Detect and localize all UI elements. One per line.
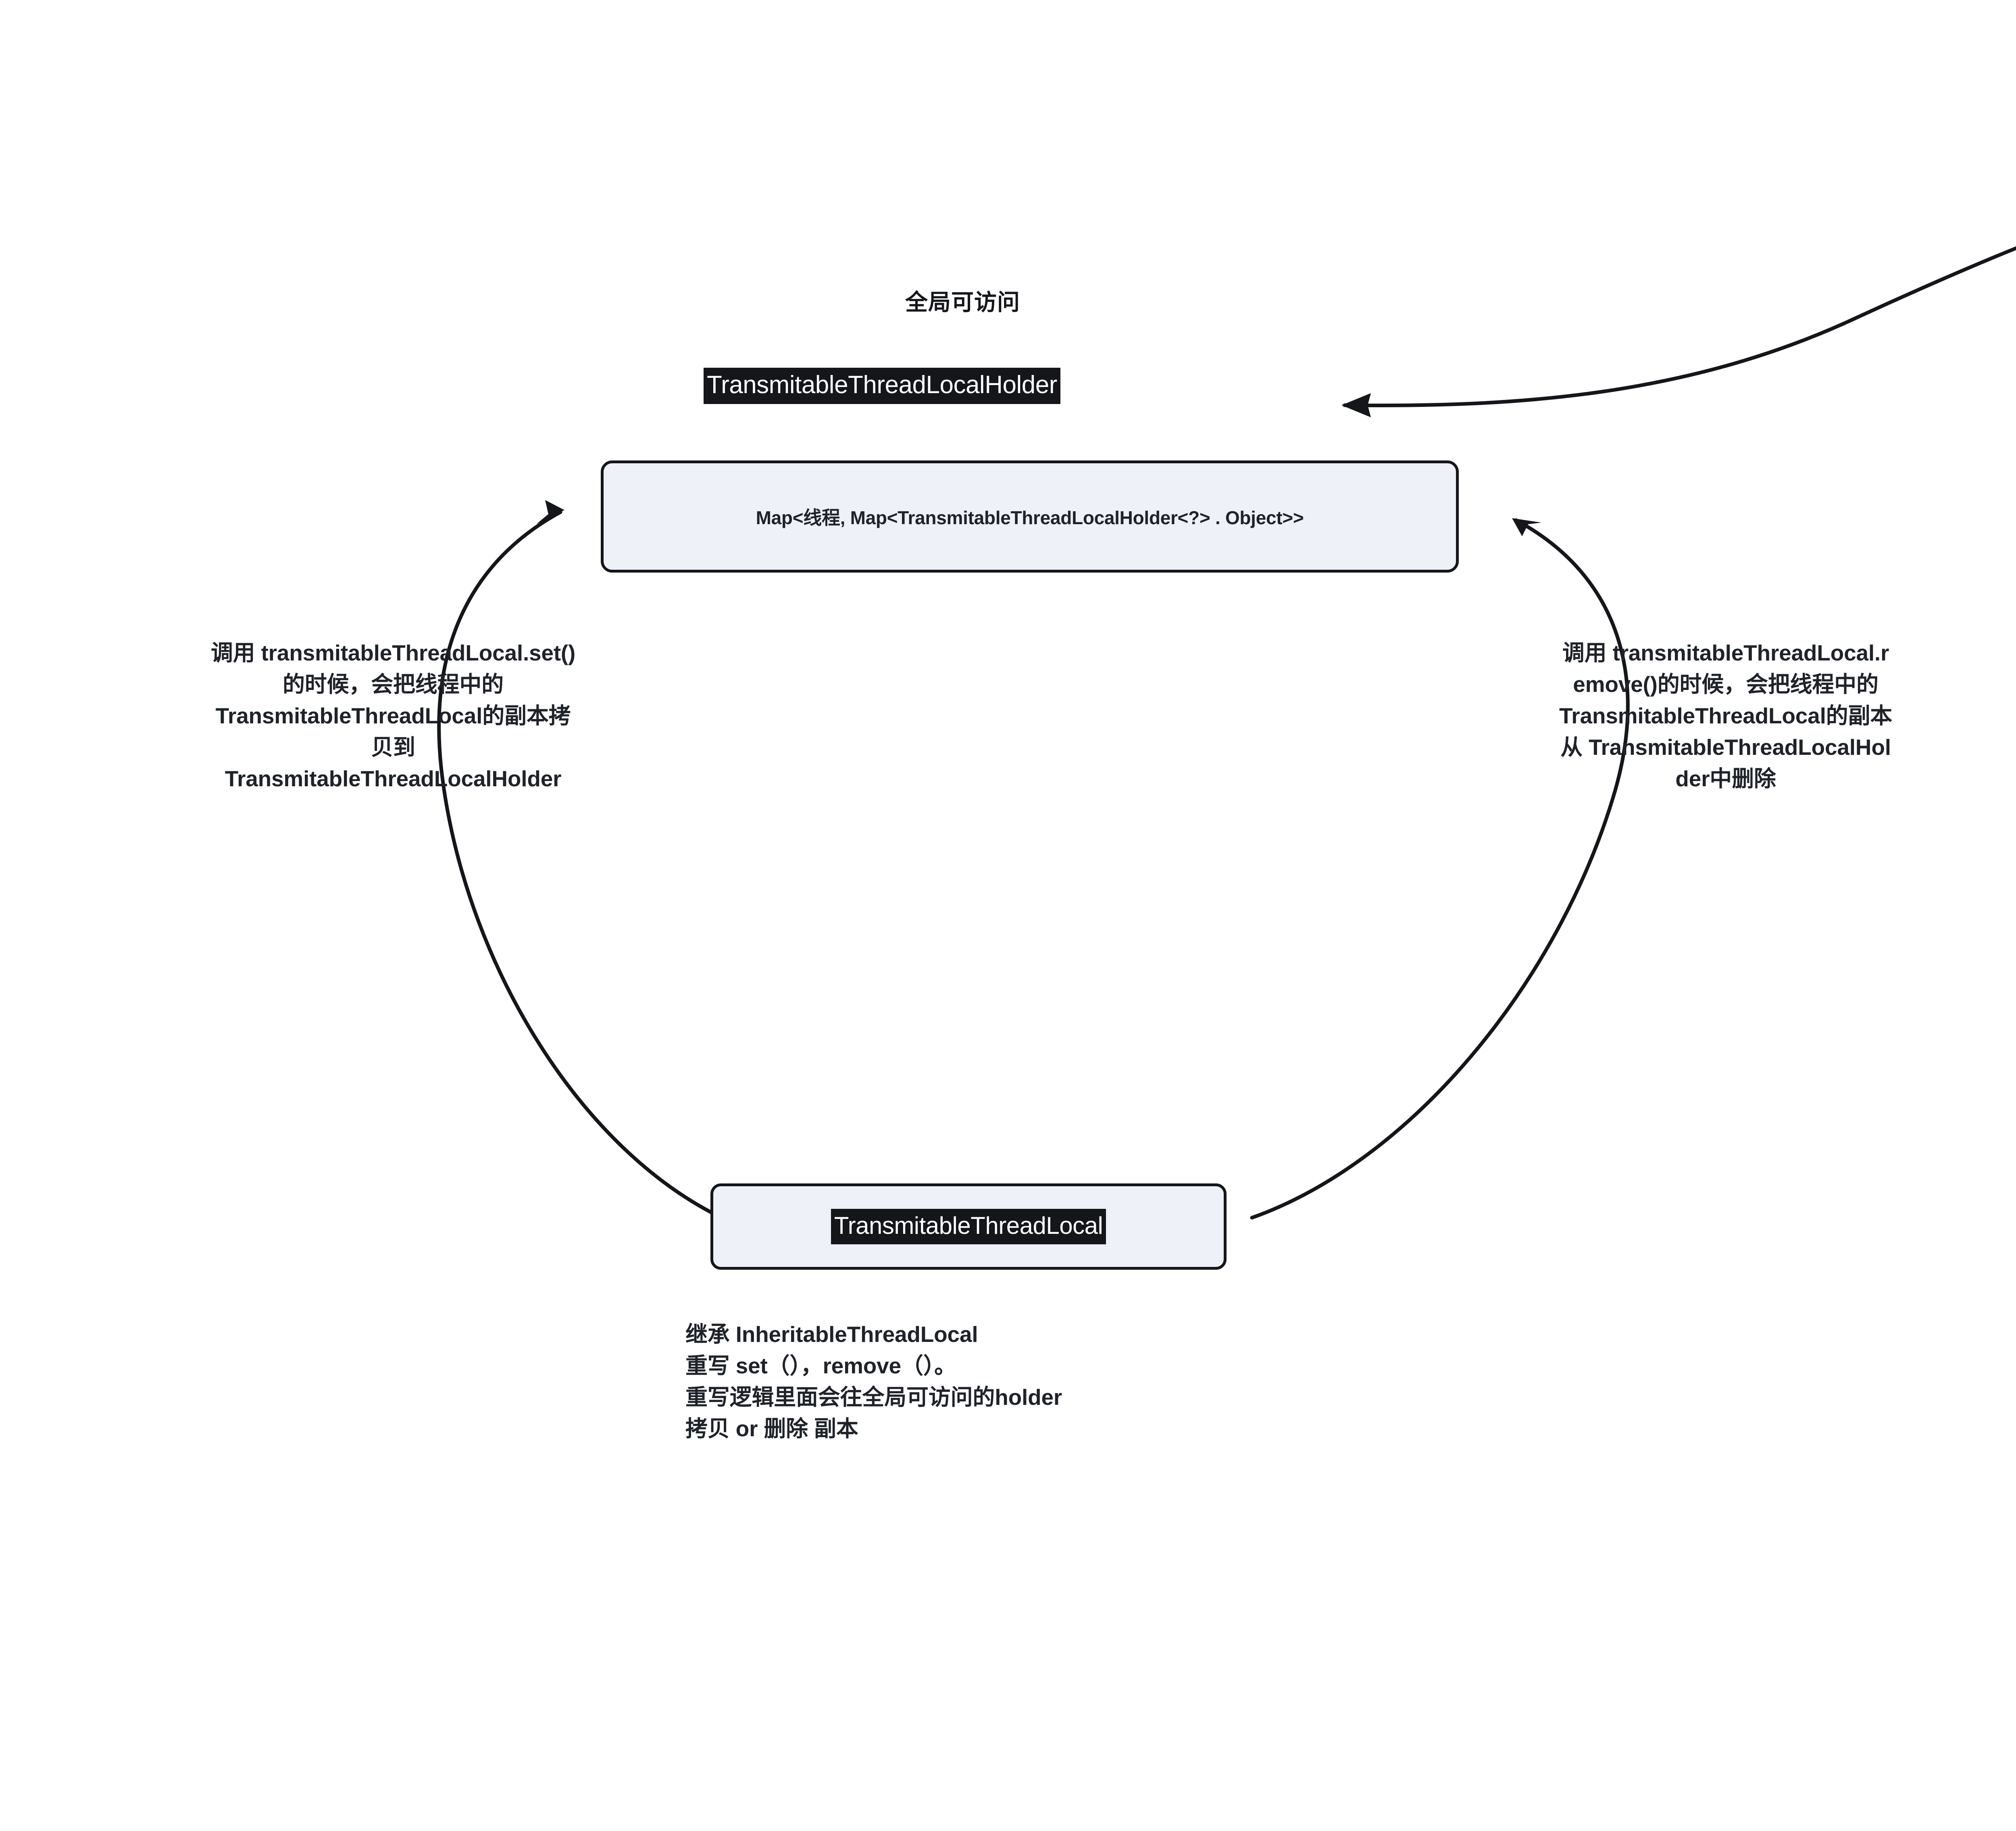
ttl-label: TransmitableThreadLocal — [831, 1209, 1106, 1244]
annotation-set: 调用 transmitableThreadLocal.set() 的时候，会把线… — [24, 637, 762, 794]
annotation-remove: 调用 transmitableThreadLocal.r emove()的时候，… — [1399, 637, 2016, 794]
edge-ttl-to-map-left — [439, 500, 722, 1218]
map-entry-box[interactable]: Map<线程, Map<TransmitableThreadLocalHolde… — [601, 460, 1459, 573]
holder-node[interactable]: TransmitableThreadLocalHolder — [704, 368, 1060, 404]
edge-layer — [0, 0, 2016, 1831]
edge-ttl-to-map-right — [1252, 518, 1628, 1218]
edge-mainthread-to-holder — [1341, 139, 2016, 417]
map-entry-label: Map<线程, Map<TransmitableThreadLocalHolde… — [756, 503, 1304, 530]
holder-label: TransmitableThreadLocalHolder — [704, 368, 1060, 404]
diagram-canvas: 全局可访问 TransmitableThreadLocalHolder Map<… — [0, 0, 2016, 1831]
ttl-node[interactable]: TransmitableThreadLocal — [710, 1183, 1227, 1270]
annotation-ttl-detail: 继承 InheritableThreadLocal 重写 set（），remov… — [685, 1319, 1452, 1444]
global-access-title: 全局可访问 — [905, 284, 1020, 317]
annotation-consume: 线程池中的其他线程消费任务的时候会取出任务 对象里面的TransmitableT… — [1855, 1113, 2016, 1262]
